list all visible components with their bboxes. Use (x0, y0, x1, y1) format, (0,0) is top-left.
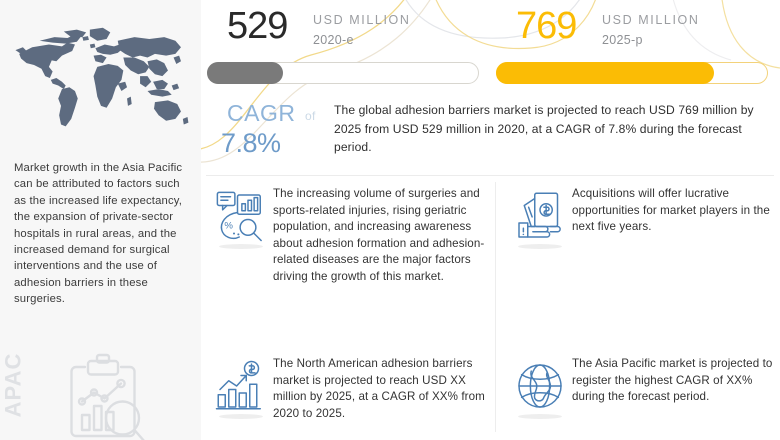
icon-shadow (518, 244, 562, 249)
clipboard-analytics-icon (55, 352, 151, 440)
globe-icon (512, 358, 568, 414)
left-panel: Market growth in the Asia Pacific can be… (0, 0, 202, 440)
progress-fill-2020 (207, 62, 283, 84)
bar-chart-growth-icon (213, 358, 269, 414)
horizontal-divider (206, 175, 774, 176)
left-description: Market growth in the Asia Pacific can be… (14, 160, 190, 308)
insight-text: Acquisitions will offer lucrative opport… (572, 186, 780, 236)
icon-shadow (219, 414, 263, 419)
infographic-root: Market growth in the Asia Pacific can be… (0, 0, 780, 440)
stat-value: 769 (516, 5, 576, 47)
cash-in-hand-icon (512, 188, 568, 244)
vertical-divider (495, 182, 496, 432)
world-map-icon (8, 8, 194, 148)
stat-block-2020: 529 USD MILLION 2020-e (201, 0, 490, 96)
progress-fill-2025 (496, 62, 714, 84)
cagr-label: CAGR (227, 100, 295, 127)
progress-track-2020 (207, 62, 479, 84)
cagr-block: CAGR of 7.8% (201, 96, 331, 168)
region-label: APAC (0, 353, 26, 418)
insight-text: The increasing volume of surgeries and s… (273, 186, 485, 286)
stat-unit: USD MILLION (602, 13, 699, 27)
insight-text: The Asia Pacific market is projected to … (572, 356, 780, 406)
icon-shadow (219, 244, 263, 249)
progress-track-2025 (496, 62, 768, 84)
market-analysis-icon: % (213, 188, 269, 244)
main-panel: 529 USD MILLION 2020-e 769 USD MILLION 2… (201, 0, 780, 440)
stat-head: 769 USD MILLION 2025-p (490, 0, 779, 62)
insight-text: The North American adhesion barriers mar… (273, 356, 485, 422)
summary-text: The global adhesion barriers market is p… (334, 101, 766, 157)
icon-shadow (518, 414, 562, 419)
stat-value: 529 (227, 5, 287, 47)
stat-head: 529 USD MILLION 2020-e (201, 0, 490, 62)
cagr-connector: of (305, 109, 316, 123)
stat-unit: USD MILLION (313, 13, 410, 27)
svg-text:%: % (224, 220, 233, 231)
stat-year: 2025-p (602, 33, 643, 47)
stat-year: 2020-e (313, 33, 354, 47)
cagr-value: 7.8% (221, 128, 281, 159)
stat-block-2025: 769 USD MILLION 2025-p (490, 0, 779, 96)
